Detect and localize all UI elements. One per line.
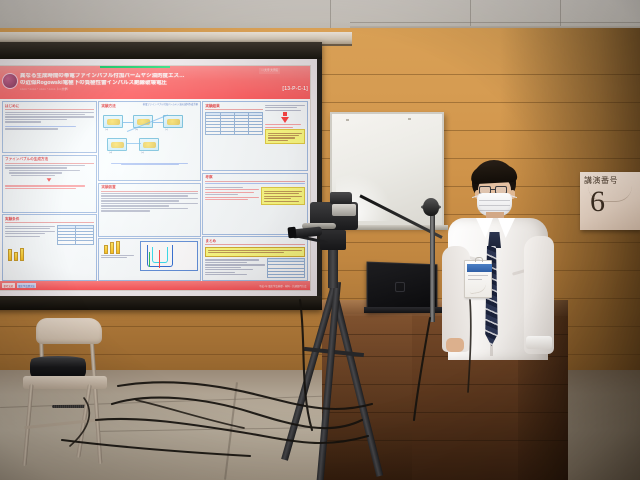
poster-title-bar: 異なる生成時間の帯電ファインバブル付加パームヤシ油的度エス… の近似Rogows… [0,66,310,99]
chair-backrest [36,318,102,344]
presentation-number-sign: 講演番号 6 [580,172,640,230]
tripod-center-column [328,248,338,288]
camera-tripod [286,190,402,480]
poster-title-line-1: 異なる生成時間の帯電ファインバブル付加パームヤシ油的度エス… [20,73,308,80]
poster-section-heading: 実験方法 [101,104,115,110]
poster-section-apparatus: 実験装置 [98,183,201,237]
poster-section-method: 実験方法 帯電ファインバブル付加パームヤシ油の試料作成手順 [98,101,201,181]
poster-section-results: 実験結果 [202,101,308,171]
camera-viewfinder [330,192,352,204]
badge-sheen [468,282,487,295]
chair-crossbar [24,418,104,429]
poster-highlight-box [265,129,305,144]
poster-authors: ○○○○・○○○○・○○○○・○○○○（○○大学） [20,87,308,92]
projected-poster: 異なる生成時間の帯電ファインバブル付加パームヤシ油的度エス… の近似Rogows… [0,65,311,291]
speaker-grill [52,405,86,408]
camera-grip [332,204,356,216]
poster-mini-table [57,225,94,245]
poster-section-bubble-method: ファインバブルの生成方法 [2,155,97,213]
poster-footer-item: 電気学会論文誌 [17,283,37,288]
shirt-cuff [526,336,552,349]
hair-fringe [471,165,518,184]
glasses-bridge [491,189,496,190]
screen-frame-top [0,42,322,59]
badge-header-band [467,264,492,272]
poster-footer: 参考文献 電気学会論文誌 平成○年 電気学会基礎・材料・共通部門大会 [0,281,310,290]
presenter [428,160,568,360]
badge-clip [475,257,483,262]
poster-section-measurement [98,238,201,281]
chair-seat [23,376,107,389]
poster-flow-diagram: (a) (b) (c) (d) (e) [101,111,198,163]
camera-lens-hood [287,227,296,239]
poster-footer-item: 参考文献 [2,283,15,288]
poster-waveform-chart [140,241,198,271]
poster-diagram-caption: 帯電ファインバブル付加パームヤシ油の試料作成手順 [143,104,198,107]
folding-chair [18,318,118,454]
hand [446,338,464,352]
poster-section-heading: 実験装置 [101,185,198,192]
microphone-stand [430,212,435,322]
poster-paper-code: [13-P-C-1] [282,86,308,92]
poster-title-line-2: の近似Rogowski電極下の負極性雷インパルス絶縁破壊電圧 [20,80,308,87]
poster-section-intro: はじめに [2,101,97,153]
screen-surface: 異なる生成時間の帯電ファインバブル付加パームヤシ油的度エス… の近似Rogows… [0,59,317,296]
poster-body: はじめに ファインバブルの生成方法 [0,99,310,281]
poster-results-table [205,112,263,135]
screen-frame-bottom [0,296,322,310]
poster-section-heading: はじめに [5,104,94,111]
university-seal-icon [2,73,18,89]
poster-title-text: 異なる生成時間の帯電ファインバブル付加パームヤシ油的度エス… の近似Rogows… [20,73,308,92]
poster-mini-bars [5,245,94,261]
poster-section-heading: ファインバブルの生成方法 [5,157,94,164]
chair-leg [90,338,103,464]
name-badge [464,260,492,298]
poster-accent-stripe [100,66,170,68]
presentation-room-photo: 異なる生成時間の帯電ファインバブル付加パームヤシ油的度エス… の近似Rogows… [0,0,640,480]
microphone-icon [423,198,439,216]
necktie-knot [488,232,501,248]
poster-section-heading: 考察 [205,175,305,182]
poster-column-left: はじめに ファインバブルの生成方法 [2,101,97,281]
poster-column-middle: 実験方法 帯電ファインバブル付加パームヤシ油の試料作成手順 [98,101,201,281]
projection-screen: 異なる生成時間の帯電ファインバブル付加パームヤシ油的度エス… の近似Rogows… [0,42,322,310]
poster-section-heading: 実験条件 [5,217,94,224]
poster-section-conditions: 実験条件 [2,214,97,281]
conference-speakerphone [30,358,86,378]
poster-affiliation: ○○大学 大学院 [259,68,280,74]
poster-section-heading: 実験結果 [205,104,263,111]
